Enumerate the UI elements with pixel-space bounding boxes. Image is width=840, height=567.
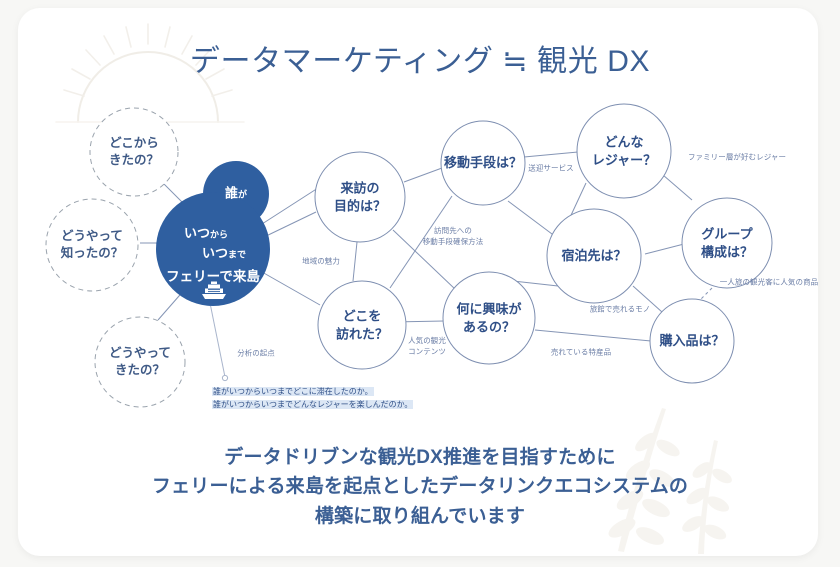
node-label-transport: 移動手段は？	[444, 154, 522, 172]
node-label-how-knew: どうやって 知ったの？	[61, 228, 124, 262]
edge-label-shuttle-service: 送迎サービス	[528, 164, 573, 175]
hub-ferry-label: フェリーで来島	[166, 265, 260, 285]
edge-hub-visited	[262, 272, 320, 305]
screenshot-root: データマーケティング ≒ 観光 DX	[0, 0, 840, 567]
node-label-group: グループ 構成は？	[701, 225, 753, 260]
edge-label-family-leisure: ファミリー層が好むレジャー	[688, 153, 786, 164]
edge-interest-purchase	[535, 330, 651, 341]
edge-label-popular-content: 人気の観光 コンテンツ	[408, 336, 446, 358]
node-label-interest: 何に興味が あるの？	[456, 300, 521, 335]
statement-line-1: データドリブンな観光DX推進を目指すために	[0, 443, 840, 472]
edge-label-local-charm: 地域の魅力	[302, 257, 340, 268]
node-label-visited-where: どこを 訪れた？	[336, 307, 388, 342]
annotation-leader	[207, 300, 227, 380]
edge-label-transport-secure: 訪問先への 移動手段確保方法	[423, 226, 484, 248]
node-label-how-came: どうやって きたの？	[109, 345, 171, 379]
statement-line-3: 構築に取り組んでいます	[0, 502, 840, 531]
node-label-where-from: どこから きたの？	[109, 135, 159, 169]
annotation-line-1: 誰がいつからいつまでどこに滞在したのか。	[212, 387, 374, 396]
node-label-lodging: 宿泊先は？	[561, 247, 626, 265]
hub-who: 誰が	[225, 183, 247, 202]
node-label-leisure: どんな レジャー？	[592, 133, 656, 168]
edge-leisure-group	[663, 175, 692, 200]
edge-transport-leisure	[524, 152, 578, 157]
edge-hub-purpose	[262, 188, 318, 224]
statement-line-2: フェリーによる来島を起点としたデータリンクエコシステムの	[0, 472, 840, 501]
edge-lodging-group	[645, 244, 684, 254]
edge-purpose-visited	[353, 242, 357, 281]
edge-group-purchase	[700, 288, 712, 300]
annotation-caption: 分析の起点	[237, 348, 275, 359]
annotation-line-2: 誰がいつからいつまでどんなレジャーを楽しんだのか。	[212, 400, 413, 409]
node-label-purchase: 購入品は？	[659, 332, 724, 350]
edge-purpose-transport	[404, 168, 442, 182]
edge-label-selling-specialty: 売れている特産品	[551, 348, 611, 359]
hub-from: いつから	[184, 223, 228, 242]
edge-label-solo-popular-item: 一人旅の観光客に人気の商品	[720, 278, 818, 289]
closing-statement: データドリブンな観光DX推進を目指すために フェリーによる来島を起点としたデータ…	[0, 443, 840, 531]
hub-to: いつまで	[202, 243, 246, 262]
node-label-visit-purpose: 来訪の 目的は？	[334, 179, 386, 214]
annotation-block: 誰がいつからいつまでどこに滞在したのか。 誰がいつからいつまでどんなレジャーを楽…	[212, 386, 413, 412]
edge-purpose-hub2	[262, 212, 316, 238]
edge-label-ryokan-selling: 旅館で売れるモノ	[590, 305, 651, 316]
